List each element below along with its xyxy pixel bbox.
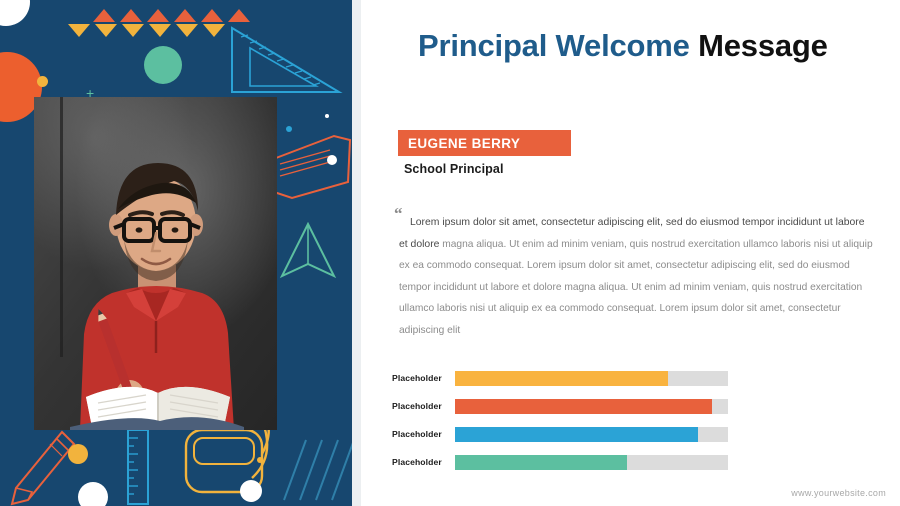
decorative-left-panel: + + (0, 0, 352, 506)
panel-divider (352, 0, 361, 506)
bar-label: Placeholder (392, 457, 454, 467)
pencil-icon (6, 428, 78, 506)
bar-track (455, 455, 728, 470)
page-title-primary: Principal Welcome (418, 28, 690, 63)
white-dot-decoration (325, 114, 329, 118)
principal-photo (34, 97, 277, 430)
white-circle-bottom-2 (240, 480, 262, 502)
yellow-dot-decoration (37, 76, 48, 87)
white-circle-bottom-1 (78, 482, 108, 506)
book-icon (272, 130, 352, 202)
bar-label: Placeholder (392, 401, 454, 411)
bar-track (455, 371, 728, 386)
bar-fill-2 (455, 399, 712, 414)
bar-label: Placeholder (392, 429, 454, 439)
bar-label: Placeholder (392, 373, 454, 383)
teal-circle-decoration (144, 46, 182, 84)
ruler-icon (120, 428, 160, 506)
bar-row: Placeholder (392, 398, 732, 414)
bar-row: Placeholder (392, 454, 732, 470)
white-circle-decoration (0, 0, 30, 26)
paper-plane-icon (278, 222, 340, 282)
bar-row: Placeholder (392, 370, 732, 386)
bar-fill-4 (455, 455, 627, 470)
body-paragraph-rest: magna aliqua. Ut enim ad minim veniam, q… (399, 239, 873, 336)
slide-root: + + (0, 0, 900, 506)
progress-bar-chart: Placeholder Placeholder Placeholder Plac… (392, 370, 732, 482)
website-url: www.yourwebsite.com (791, 488, 886, 498)
bar-track (455, 399, 728, 414)
yellow-circle-bottom (68, 444, 88, 464)
bar-track (455, 427, 728, 442)
triangle-ruler-icon (228, 24, 343, 96)
role-label: School Principal (404, 162, 504, 176)
page-title-secondary: Message (698, 28, 828, 63)
bar-row: Placeholder (392, 426, 732, 442)
name-badge-label: EUGENE BERRY (398, 136, 520, 151)
diagonal-lines-decoration (280, 430, 352, 506)
name-badge: EUGENE BERRY (398, 130, 571, 156)
page-title: Principal Welcome Message (418, 28, 828, 64)
body-paragraph: Lorem ipsum dolor sit amet, consectetur … (399, 212, 876, 341)
bar-fill-1 (455, 371, 668, 386)
bar-fill-3 (455, 427, 698, 442)
